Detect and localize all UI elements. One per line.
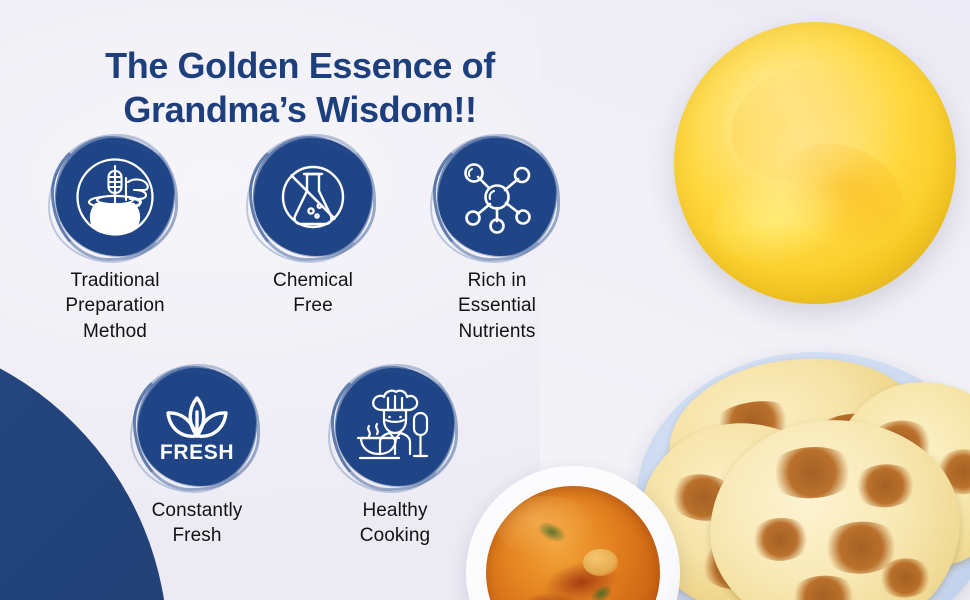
butter-churn-icon	[56, 138, 174, 256]
feature-rich-in-nutrients: Rich in Essential Nutrients	[412, 138, 582, 344]
label-line: Traditional	[30, 268, 200, 293]
feature-label: Chemical Free	[228, 268, 398, 319]
label-line: Free	[228, 293, 398, 318]
feature-label: Rich in Essential Nutrients	[412, 268, 582, 344]
badge-constantly-fresh: FRESH	[138, 368, 256, 486]
feature-traditional-preparation: Traditional Preparation Method	[30, 138, 200, 344]
label-line: Rich in	[412, 268, 582, 293]
feature-chemical-free: Chemical Free	[228, 138, 398, 319]
label-line: Chemical	[228, 268, 398, 293]
label-line: Preparation	[30, 293, 200, 318]
promo-banner: The Golden Essence of Grandma’s Wisdom!!	[0, 0, 970, 600]
chef-cooking-icon	[336, 368, 454, 486]
label-line: Fresh	[112, 523, 282, 548]
label-line: Nutrients	[412, 319, 582, 344]
ghee-bowl-rim	[674, 22, 956, 304]
label-line: Method	[30, 319, 200, 344]
label-line: Essential	[412, 293, 582, 318]
badge-traditional-preparation	[56, 138, 174, 256]
feature-constantly-fresh: FRESH Constantly Fresh	[112, 368, 282, 549]
badge-rich-in-nutrients	[438, 138, 556, 256]
curry-contents	[486, 486, 660, 600]
ghee-bowl-photo	[674, 22, 956, 304]
badge-text-fresh: FRESH	[160, 441, 234, 464]
molecule-nutrients-icon	[438, 138, 556, 256]
badge-healthy-cooking	[336, 368, 454, 486]
feature-label: Healthy Cooking	[310, 498, 480, 549]
badge-chemical-free	[254, 138, 372, 256]
label-line: Healthy	[310, 498, 480, 523]
feature-healthy-cooking: Healthy Cooking	[310, 368, 480, 549]
feature-label: Constantly Fresh	[112, 498, 282, 549]
fresh-leaf-icon: FRESH	[138, 368, 256, 486]
feature-label: Traditional Preparation Method	[30, 268, 200, 344]
label-line: Cooking	[310, 523, 480, 548]
headline-line-1: The Golden Essence of	[105, 45, 495, 86]
headline: The Golden Essence of Grandma’s Wisdom!!	[0, 44, 600, 133]
headline-line-2: Grandma’s Wisdom!!	[0, 88, 600, 132]
no-chemicals-flask-icon	[254, 138, 372, 256]
label-line: Constantly	[112, 498, 282, 523]
